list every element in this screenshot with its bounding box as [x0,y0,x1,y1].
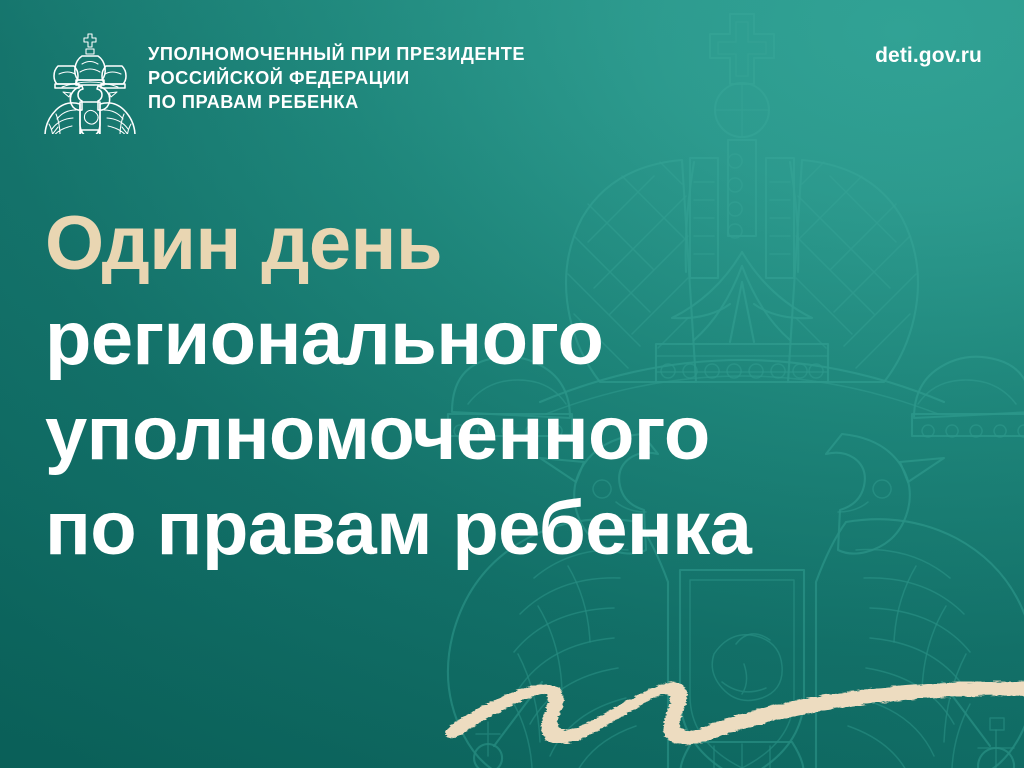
page-title-line-2: регионального [45,291,945,386]
organization-name-line-1: Уполномоченный при Президенте [148,43,525,67]
page-title-line-3: уполномоченного [45,386,945,481]
promo-banner: Уполномоченный при Президенте Российской… [0,0,1024,768]
organization-name: Уполномоченный при Президенте Российской… [148,43,525,114]
organization-name-line-2: Российской Федерации [148,67,525,91]
page-title: Один день регионального уполномоченного … [45,196,945,576]
russian-coat-of-arms-icon [42,30,138,134]
site-url-link[interactable]: deti.gov.ru [875,44,982,68]
page-title-line-1: Один день [45,196,945,291]
banner-header: Уполномоченный при Президенте Российской… [0,0,1024,150]
organization-name-line-3: по правам ребенка [148,91,525,115]
page-title-line-4: по правам ребенка [45,481,945,576]
